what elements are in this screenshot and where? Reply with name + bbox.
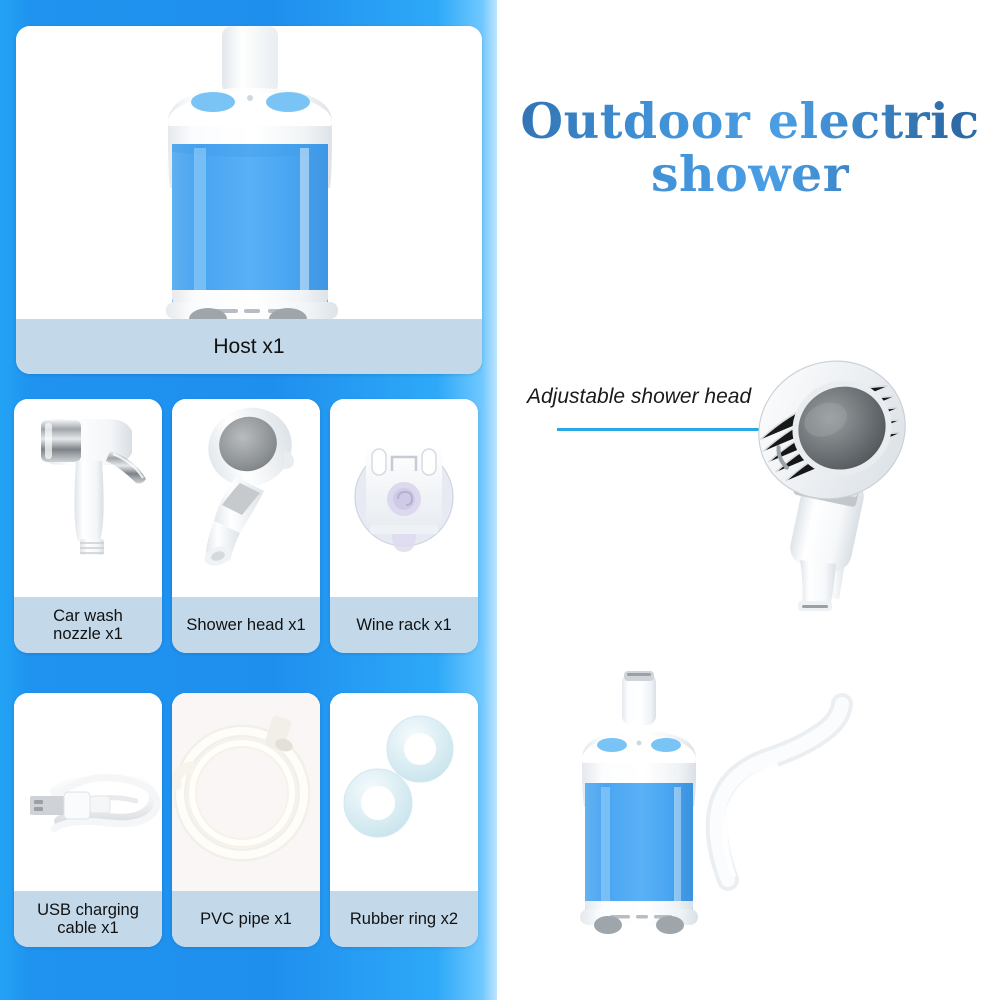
photo-wine-rack [330, 399, 478, 597]
caption-usb-cable: USB chargingcable x1 [14, 891, 162, 947]
caption-host: Host x1 [16, 319, 482, 374]
product-infographic: Host x1 [0, 0, 1000, 1000]
usb-cable-icon [14, 693, 162, 891]
caption-rubber-ring: Rubber ring x2 [330, 891, 478, 947]
photo-rubber-rings [330, 693, 478, 891]
photo-host [16, 26, 482, 319]
photo-car-wash-nozzle [14, 399, 162, 597]
cell-car-wash-nozzle: Car washnozzle x1 [14, 399, 162, 653]
caption-car-wash-nozzle: Car washnozzle x1 [14, 597, 162, 653]
rubber-rings-icon [330, 693, 478, 891]
title-line-1: Outdoor electric [520, 92, 979, 150]
caption-wine-rack: Wine rack x1 [330, 597, 478, 653]
photo-usb-cable [14, 693, 162, 891]
cell-showerhead-label: Shower head x1 [186, 616, 305, 634]
cell-rubber-ring: Rubber ring x2 [330, 693, 478, 947]
car-wash-nozzle-icon [14, 399, 162, 597]
caption-shower-head: Shower head x1 [172, 597, 320, 653]
cell-ring-label: Rubber ring x2 [350, 910, 458, 928]
cell-pvc-label: PVC pipe x1 [200, 910, 292, 928]
photo-shower-head [172, 399, 320, 597]
shower-head-icon [172, 399, 320, 597]
cell-shower-head: Shower head x1 [172, 399, 320, 653]
cell-wine-rack: Wine rack x1 [330, 399, 478, 653]
cell-host: Host x1 [16, 26, 482, 374]
suction-wall-rack-icon [330, 399, 478, 597]
cell-host-label: Host x1 [213, 335, 284, 359]
hero-product-photo [560, 355, 980, 975]
cell-usb-label: USB chargingcable x1 [37, 901, 139, 938]
caption-pvc-pipe: PVC pipe x1 [172, 891, 320, 947]
shower-assembly-icon [560, 355, 980, 975]
blue-pump-unit-icon [16, 26, 482, 319]
page-title: Outdoor electric shower [500, 95, 1000, 201]
cell-winerack-label: Wine rack x1 [356, 616, 451, 634]
cell-carwash-label: Car washnozzle x1 [53, 607, 123, 644]
title-line-2: shower [500, 148, 1000, 201]
accessories-panel: Host x1 [0, 0, 497, 1000]
coiled-hose-icon [172, 693, 320, 891]
cell-usb-cable: USB chargingcable x1 [14, 693, 162, 947]
cell-pvc-pipe: PVC pipe x1 [172, 693, 320, 947]
photo-pvc-pipe [172, 693, 320, 891]
